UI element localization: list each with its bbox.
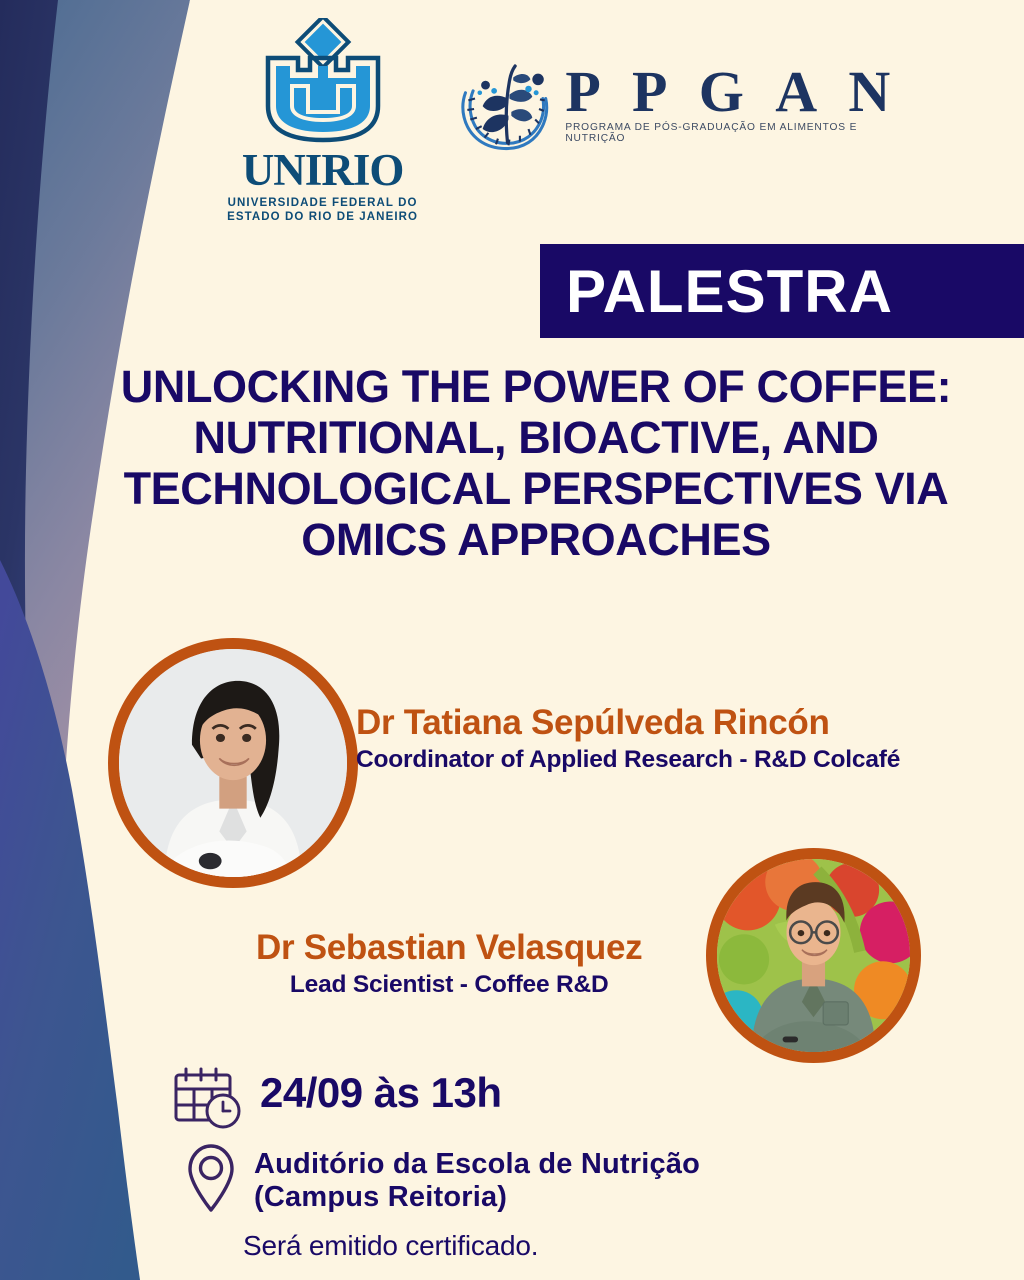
title-line-2: NUTRITIONAL, BIOACTIVE, AND <box>96 413 976 464</box>
title-line-1: UNLOCKING THE POWER OF COFFEE: <box>96 362 976 413</box>
speaker-role: Lead Scientist - Coffee R&D <box>256 970 642 999</box>
poster-root: UNIRIO UNIVERSIDADE FEDERAL DO ESTADO DO… <box>0 0 1024 1280</box>
speaker-name: Dr Tatiana Sepúlveda Rincón <box>356 703 900 742</box>
ppgan-subtitle: PROGRAMA DE PÓS-GRADUAÇÃO EM ALIMENTOS E… <box>565 122 905 144</box>
unirio-wordmark: UNIRIO <box>242 148 404 193</box>
title-line-4: OMICS APPROACHES <box>96 515 976 566</box>
map-pin-icon <box>184 1142 238 1214</box>
speaker-info-tatiana: Dr Tatiana Sepúlveda Rincón Coordinator … <box>356 703 900 775</box>
certificate-note: Será emitido certificado. <box>243 1230 538 1262</box>
speaker-portrait-tatiana <box>108 638 358 888</box>
event-location: Auditório da Escola de Nutrição (Campus … <box>254 1148 700 1214</box>
speaker-portrait-sebastian <box>706 848 921 1063</box>
event-location-line2: (Campus Reitoria) <box>254 1181 700 1214</box>
palestra-banner: PALESTRA <box>540 244 1024 338</box>
unirio-subtitle: UNIVERSIDADE FEDERAL DO ESTADO DO RIO DE… <box>227 196 418 225</box>
speaker-info-sebastian: Dr Sebastian Velasquez Lead Scientist - … <box>256 928 642 1000</box>
palestra-label: PALESTRA <box>566 257 893 326</box>
speaker-role: Coordinator of Applied Research - R&D Co… <box>356 745 900 774</box>
unirio-logo: UNIRIO UNIVERSIDADE FEDERAL DO ESTADO DO… <box>227 18 418 225</box>
event-date-row: 24/09 às 13h <box>172 1066 502 1132</box>
event-location-line1: Auditório da Escola de Nutrição <box>254 1148 700 1181</box>
portrait-illustration-tatiana <box>119 649 347 877</box>
unirio-shield-icon <box>248 18 398 146</box>
event-date: 24/09 às 13h <box>260 1072 502 1114</box>
page-title: UNLOCKING THE POWER OF COFFEE: NUTRITION… <box>96 362 976 565</box>
ppgan-logo: P P G A N PROGRAMA DE PÓS-GRADUAÇÃO EM A… <box>454 58 905 160</box>
calendar-clock-icon <box>172 1066 246 1132</box>
unirio-subtitle-line1: UNIVERSIDADE FEDERAL DO <box>227 196 418 210</box>
portrait-illustration-sebastian <box>717 859 910 1052</box>
title-line-3: TECHNOLOGICAL PERSPECTIVES VIA <box>96 464 976 515</box>
ppgan-wordmark: P P G A N <box>565 64 905 119</box>
ppgan-plant-dna-icon <box>454 58 557 160</box>
unirio-subtitle-line2: ESTADO DO RIO DE JANEIRO <box>227 210 418 224</box>
speaker-name: Dr Sebastian Velasquez <box>256 928 642 967</box>
event-location-row: Auditório da Escola de Nutrição (Campus … <box>184 1142 700 1214</box>
logo-header: UNIRIO UNIVERSIDADE FEDERAL DO ESTADO DO… <box>205 18 905 218</box>
